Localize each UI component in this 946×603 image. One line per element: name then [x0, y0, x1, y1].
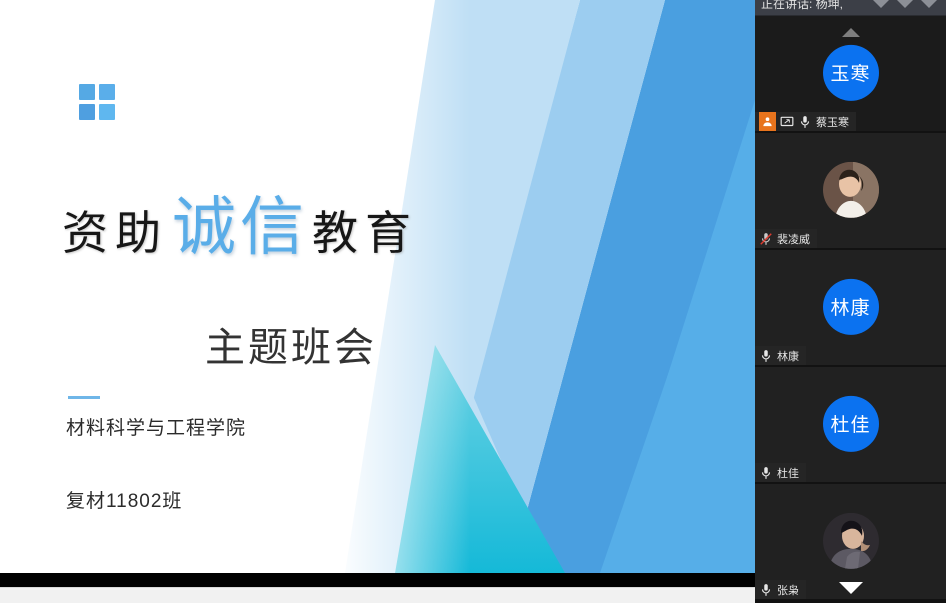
participant-name-bar: 杜佳 [755, 463, 806, 482]
participant-tile[interactable]: 裴凌威 [755, 133, 946, 250]
slide-title-highlight: 诚信 [172, 196, 308, 260]
participant-name-bar: 林康 [755, 346, 806, 365]
participant-name: 裴凌威 [777, 231, 810, 247]
participant-name: 林康 [777, 348, 799, 364]
slide-title-part1: 资助 [62, 210, 168, 256]
window-bottom-strip [0, 587, 755, 603]
avatar: 杜佳 [823, 395, 879, 451]
chevron-down-icon[interactable] [870, 0, 940, 8]
slide-class-name: 复材11802班 [66, 486, 182, 513]
participant-name: 杜佳 [777, 465, 799, 481]
slide-title: 资助诚信教育 [62, 196, 482, 286]
microphone-icon [759, 466, 773, 480]
shared-screen-area[interactable]: 资助诚信教育 主题班会 材料科学与工程学院 复材11802班 [0, 0, 755, 573]
participant-name-bar: 蔡玉寒 [755, 112, 856, 131]
triangle-up-icon[interactable] [842, 28, 860, 37]
slide-subtitle: 主题班会 [205, 315, 377, 373]
participant-tile[interactable]: 林康 林康 [755, 250, 946, 367]
screen-share-icon [780, 115, 794, 129]
slide-divider-rule [68, 396, 100, 399]
avatar: 林康 [823, 278, 879, 334]
host-person-icon [759, 112, 776, 131]
slide-title-part2: 教育 [312, 210, 418, 256]
participant-name-bar: 裴凌威 [755, 229, 817, 248]
participant-tile-list: 玉寒 蔡玉寒 [755, 16, 946, 603]
slide-decoration [335, 0, 755, 573]
microphone-icon [798, 115, 812, 129]
microphone-icon [759, 349, 773, 363]
avatar [823, 161, 879, 217]
active-speaker-bar: 正在讲话: 杨坤, [755, 0, 946, 16]
microphone-icon [759, 583, 773, 597]
active-speaker-label: 正在讲话: 杨坤, [761, 0, 843, 12]
triangle-down-icon[interactable] [839, 582, 863, 594]
participant-name: 蔡玉寒 [816, 114, 849, 130]
slide-bottom-black-bar [0, 573, 755, 587]
participant-tile[interactable]: 杜佳 杜佳 [755, 367, 946, 484]
presentation-slide: 资助诚信教育 主题班会 材料科学与工程学院 复材11802班 [0, 0, 755, 573]
avatar: 玉寒 [823, 44, 879, 100]
microphone-muted-icon [759, 232, 773, 246]
participant-name: 张枭 [777, 582, 799, 598]
four-squares-logo-icon [79, 84, 115, 120]
slide-organization: 材料科学与工程学院 [66, 413, 246, 440]
meeting-screen-share-window: 资助诚信教育 主题班会 材料科学与工程学院 复材11802班 正在讲话: 杨坤,… [0, 0, 946, 603]
participant-video-panel: 正在讲话: 杨坤, 玉寒 [755, 0, 946, 603]
avatar [823, 512, 879, 568]
participant-name-bar: 张枭 [755, 580, 806, 599]
